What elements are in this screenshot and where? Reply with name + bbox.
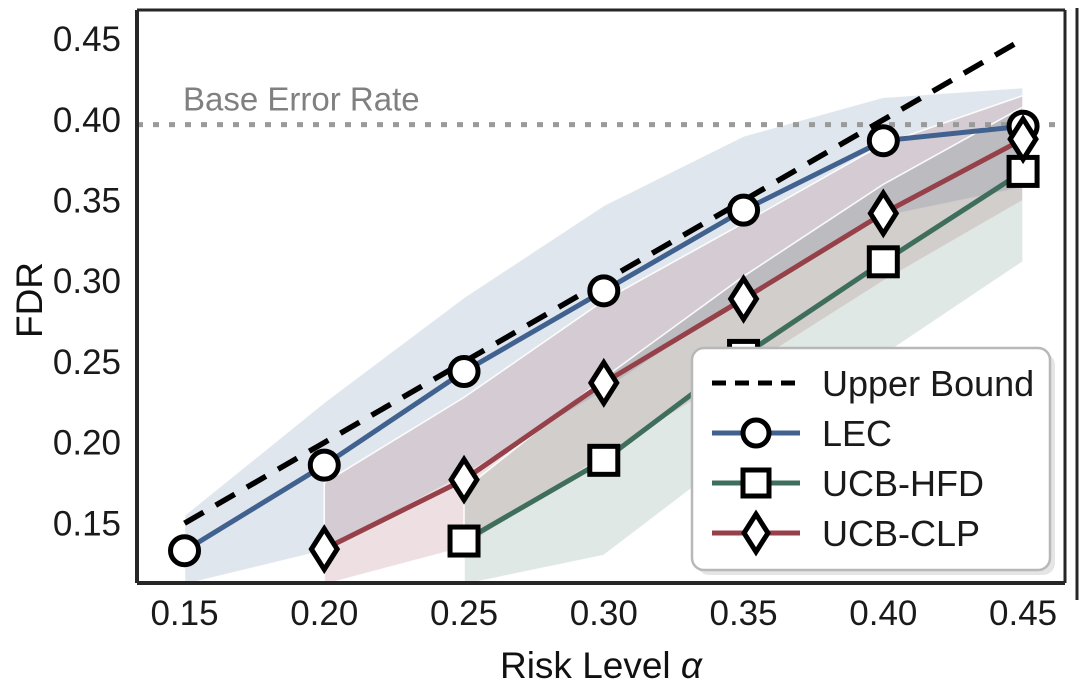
- legend-marker-circle-icon: [743, 420, 769, 446]
- y-axis-title: FDR: [9, 262, 50, 338]
- y-tick-labels: 0.150.200.250.300.350.400.45: [53, 20, 121, 543]
- x-tick-label: 0.40: [849, 594, 917, 633]
- x-tick-label: 0.45: [989, 594, 1057, 633]
- fdr-vs-risk-level-chart: Base Error Rate 0.150.200.250.300.350.40…: [0, 0, 1083, 692]
- legend-item-ucb-clp[interactable]: UCB-CLP: [712, 513, 980, 554]
- legend-marker-square-icon: [743, 470, 769, 496]
- figure-root: Base Error Rate 0.150.200.250.300.350.40…: [0, 0, 1083, 692]
- x-axis-title: Risk Level α: [500, 645, 703, 686]
- x-axis-title-prefix: Risk Level: [500, 645, 681, 686]
- x-tick-labels: 0.150.200.250.300.350.400.45: [150, 594, 1057, 633]
- marker-ucb-hfd: [590, 446, 618, 474]
- y-tick-label: 0.35: [53, 181, 121, 220]
- marker-ucb-hfd: [869, 248, 897, 276]
- legend-item-ucb-hfd[interactable]: UCB-HFD: [712, 463, 984, 504]
- x-tick-label: 0.15: [150, 594, 218, 633]
- marker-lec: [171, 537, 199, 565]
- legend-label: LEC: [822, 413, 892, 454]
- base-error-rate-label: Base Error Rate: [183, 81, 420, 118]
- y-tick-label: 0.30: [53, 262, 121, 301]
- x-tick-label: 0.30: [570, 594, 638, 633]
- marker-lec: [310, 451, 338, 479]
- legend-label: Upper Bound: [822, 363, 1034, 404]
- marker-lec: [869, 127, 897, 155]
- y-tick-label: 0.20: [53, 424, 121, 463]
- y-tick-label: 0.40: [53, 101, 121, 140]
- x-tick-label: 0.35: [709, 594, 777, 633]
- y-tick-label: 0.25: [53, 343, 121, 382]
- x-tick-label: 0.20: [290, 594, 358, 633]
- legend-label: UCB-CLP: [822, 513, 980, 554]
- x-tick-label: 0.25: [430, 594, 498, 633]
- x-axis-title-symbol: α: [681, 645, 703, 686]
- legend[interactable]: Upper BoundLECUCB-HFDUCB-CLP: [692, 348, 1055, 575]
- marker-ucb-hfd: [450, 527, 478, 555]
- y-tick-label: 0.15: [53, 504, 121, 543]
- y-tick-label: 0.45: [53, 20, 121, 59]
- legend-label: UCB-HFD: [822, 463, 984, 504]
- marker-lec: [590, 277, 618, 305]
- marker-lec: [730, 196, 758, 224]
- marker-lec: [450, 358, 478, 386]
